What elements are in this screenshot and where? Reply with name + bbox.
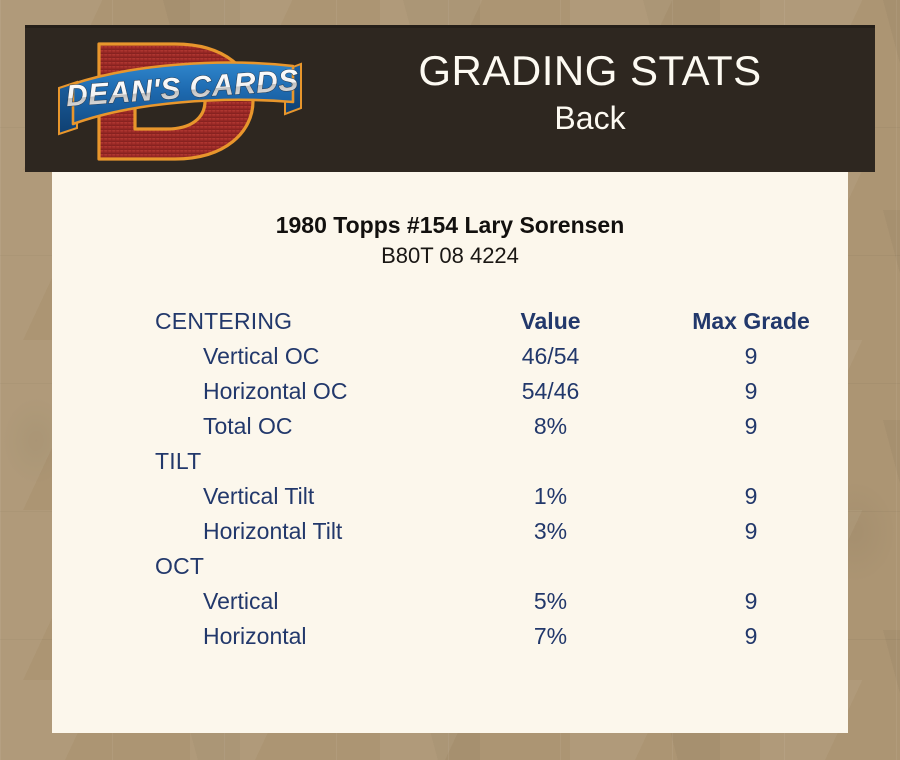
stat-value: 5% xyxy=(447,584,654,619)
stat-max-grade: 9 xyxy=(654,374,848,409)
stat-max-grade: 9 xyxy=(654,619,848,654)
stat-label: Horizontal OC xyxy=(52,374,447,409)
stat-value: 46/54 xyxy=(447,339,654,374)
logo-artwork: DEAN'S CARDS xyxy=(55,30,305,173)
stat-max-grade: 9 xyxy=(654,514,848,549)
card-title: 1980 Topps #154 Lary Sorensen xyxy=(52,210,848,240)
stats-section-heading: TILT xyxy=(52,444,447,479)
stats-row: Vertical Tilt1%9 xyxy=(52,479,848,514)
stat-value: 54/46 xyxy=(447,374,654,409)
grading-stats-table: CENTERINGValueMax GradeVertical OC46/549… xyxy=(52,304,848,654)
card-serial-number: B80T 08 4224 xyxy=(52,241,848,271)
deans-cards-logo[interactable]: DEAN'S CARDS xyxy=(55,30,305,173)
stat-max-grade: 9 xyxy=(654,479,848,514)
stats-row: Horizontal7%9 xyxy=(52,619,848,654)
content-panel: 1980 Topps #154 Lary Sorensen B80T 08 42… xyxy=(52,172,848,733)
stats-section-heading: OCT xyxy=(52,549,447,584)
stats-row: Vertical OC46/549 xyxy=(52,339,848,374)
column-header-value: Value xyxy=(447,304,654,339)
stat-value: 1% xyxy=(447,479,654,514)
stat-max-grade: 9 xyxy=(654,339,848,374)
stat-label: Horizontal Tilt xyxy=(52,514,447,549)
stat-label: Vertical OC xyxy=(52,339,447,374)
stat-label: Horizontal xyxy=(52,619,447,654)
stat-label: Total OC xyxy=(52,409,447,444)
stat-max-grade: 9 xyxy=(654,584,848,619)
stat-label: Vertical xyxy=(52,584,447,619)
stats-row: Horizontal Tilt3%9 xyxy=(52,514,848,549)
stats-row: Total OC8%9 xyxy=(52,409,848,444)
stat-value: 3% xyxy=(447,514,654,549)
stats-section-header-row: TILT xyxy=(52,444,848,479)
stat-max-grade: 9 xyxy=(654,409,848,444)
stat-value: 8% xyxy=(447,409,654,444)
stats-section-header-row: CENTERINGValueMax Grade xyxy=(52,304,848,339)
header-title-group: GRADING STATS Back xyxy=(315,44,865,138)
stat-label: Vertical Tilt xyxy=(52,479,447,514)
column-header-max-grade: Max Grade xyxy=(654,304,848,339)
stats-section-header-row: OCT xyxy=(52,549,848,584)
stats-row: Horizontal OC54/469 xyxy=(52,374,848,409)
stats-section-heading: CENTERING xyxy=(52,304,447,339)
header-bar: DEAN'S CARDS GRADING STATS Back xyxy=(25,25,875,172)
stats-row: Vertical5%9 xyxy=(52,584,848,619)
page-subtitle: Back xyxy=(315,98,865,138)
page-title: GRADING STATS xyxy=(315,44,865,98)
stat-value: 7% xyxy=(447,619,654,654)
